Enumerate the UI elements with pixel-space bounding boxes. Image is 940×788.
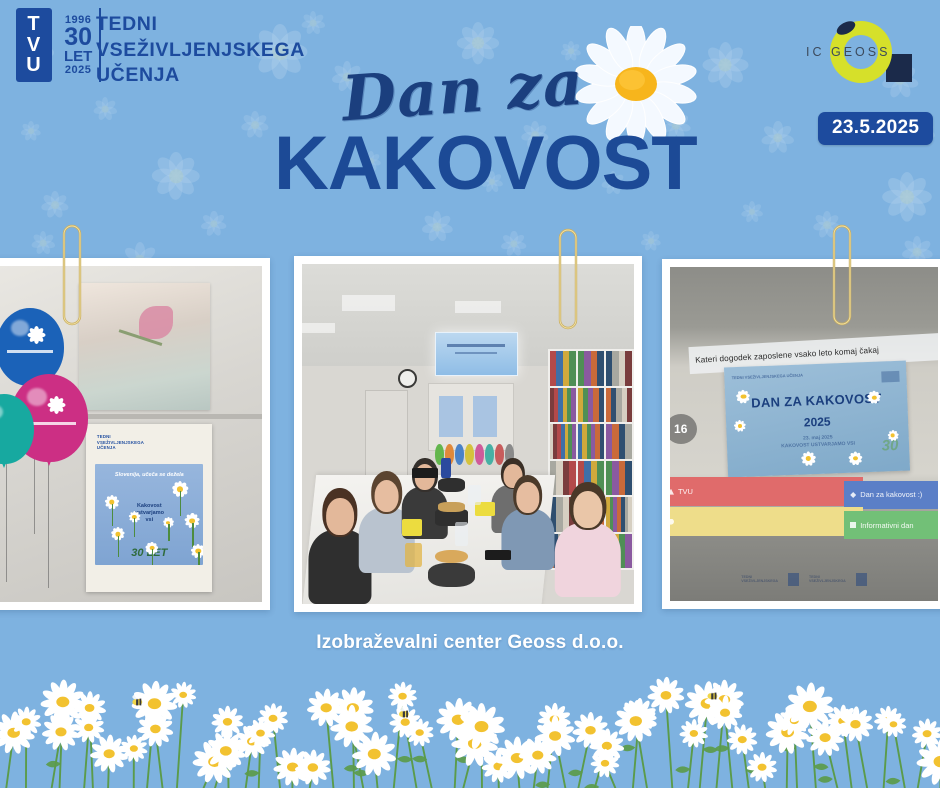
p3-slide: TEDNI VSEŽIVLJENJSKEGA UČENJA DAN ZA KAK… <box>724 360 910 477</box>
p2-whiteboard <box>428 383 514 451</box>
p1-poster-slogan-l3: vsi <box>146 517 154 523</box>
fruit-bowl <box>438 478 465 492</box>
p3-slide-tvu-logo <box>881 371 899 383</box>
tvu-wordmark-line2: VSEŽIVLJENJSKEGA <box>96 38 305 64</box>
daisy-leaf <box>46 761 61 768</box>
paperclip-icon <box>56 216 88 334</box>
background-daisy-icon <box>760 120 796 156</box>
poster-daisy-stem <box>134 518 135 536</box>
daisy-leaf <box>885 778 900 785</box>
photo-projected-quiz: Kateri dogodek zaposlene vsako leto koma… <box>670 267 938 601</box>
slide-daisy-icon <box>867 390 882 405</box>
bookshelf-cell <box>550 388 576 423</box>
background-daisy-icon <box>640 230 662 252</box>
quiz-answer-marker-icon <box>850 492 856 498</box>
p1-poster-body: Slovenija, učeča se dežela Kakovost ustv… <box>95 464 203 565</box>
daisy-icon <box>747 752 778 783</box>
quiz-answer-marker-icon <box>850 522 856 528</box>
photo-frame-team[interactable] <box>294 256 642 612</box>
p3-slide-header: TEDNI VSEŽIVLJENJSKEGA UČENJA <box>732 372 804 380</box>
background-daisy-icon <box>700 40 750 90</box>
pastry-platter <box>428 563 474 587</box>
p2-board-sheet-2 <box>473 396 497 437</box>
bookshelf-cell <box>606 424 632 459</box>
p2-light-3 <box>302 323 335 333</box>
slide-daisy-icon <box>736 388 752 404</box>
balloon-daisy-print <box>43 392 70 418</box>
juice-glass <box>405 543 422 567</box>
tvu-anniversary-unit: LET <box>64 49 92 64</box>
bookshelf-cell <box>578 351 604 386</box>
slide-daisy-icon <box>734 419 747 432</box>
quiz-answer-option[interactable] <box>670 507 863 535</box>
quiz-answer-option[interactable]: TVU <box>670 477 863 505</box>
daisy-leaf <box>703 746 718 753</box>
photo-balloons-poster: TEDNI VSEŽIVLJENJSKEGA UČENJA Slovenija,… <box>0 266 262 602</box>
background-daisy-icon <box>150 150 202 202</box>
tvu-wordmark-line1: TEDNI <box>96 12 305 38</box>
tvu-mark: TVU <box>16 8 52 82</box>
water-bottle <box>441 458 451 478</box>
photo-strip: TEDNI VSEŽIVLJENJSKEGA UČENJA Slovenija,… <box>0 258 940 616</box>
daisy-leaf <box>675 766 690 773</box>
poster-daisy-icon <box>184 513 201 530</box>
bookshelf-cell <box>550 424 576 459</box>
quiz-answer-option[interactable]: Informativni dan <box>844 511 938 539</box>
background-daisy-icon <box>20 120 42 142</box>
daisy-icon <box>614 700 657 743</box>
page-title-main: KAKOVOST <box>274 126 697 202</box>
page-caption: Izobraževalni center Geoss d.o.o. <box>0 632 940 654</box>
poster-daisy-stem <box>198 552 199 565</box>
person-face <box>573 491 602 528</box>
person-face <box>326 498 354 535</box>
event-date-badge: 23.5.2025 <box>818 112 933 145</box>
p3-footer-logo-1 <box>788 573 799 586</box>
daisy-icon <box>912 718 940 749</box>
tvu-mark-letters: TVU <box>26 14 41 76</box>
water-glass <box>455 522 468 546</box>
pastries <box>438 502 465 512</box>
daisy-leaf <box>584 784 599 788</box>
background-daisy-icon <box>420 210 454 244</box>
bookshelf-cell <box>550 351 576 386</box>
balloon-daisy-print <box>25 324 48 347</box>
p2-board-sheet-1 <box>439 396 463 437</box>
p2-projection-screen <box>435 332 518 376</box>
p3-footer-logo-2 <box>856 573 867 586</box>
bookshelf-cell <box>606 388 632 423</box>
background-daisy-icon <box>880 170 934 224</box>
balloon-string <box>48 458 49 588</box>
tvu-year-end: 2025 <box>65 64 91 76</box>
slide-daisy-icon <box>848 450 864 466</box>
daisy-leaf <box>818 776 833 783</box>
person-face <box>374 480 399 513</box>
daisy-leaf <box>397 756 412 763</box>
poster-daisy-stem <box>180 491 181 516</box>
poster-daisy-stem <box>118 536 119 557</box>
quiz-answer-marker-icon <box>670 519 674 525</box>
water-glass <box>468 485 481 505</box>
p2-screen-line-1 <box>447 344 505 347</box>
p1-poster-header-line3: UČENJA <box>97 445 202 450</box>
slide-daisy-icon <box>887 429 899 441</box>
quiz-answer-label: TVU <box>678 487 693 496</box>
smartphone <box>485 550 512 560</box>
ic-geoss-wordmark: IC GEOSS <box>806 45 890 59</box>
poster-daisy-icon <box>162 517 174 529</box>
croissant <box>435 550 468 564</box>
poster-daisy-icon <box>190 543 203 559</box>
p3-slide-footer: TEDNIVSEŽIVLJENJSKEGA TEDNIVSEŽIVLJENJSK… <box>670 564 938 594</box>
napkin-yellow <box>402 519 422 536</box>
p3-footer-text-2: TEDNIVSEŽIVLJENJSKEGA <box>809 575 846 584</box>
daisy-leaf <box>814 764 829 771</box>
bookshelf-cell <box>578 424 604 459</box>
balloon-wordmark <box>7 350 53 353</box>
tvu-logo: TVU 1996 30 LET 2025 <box>16 8 101 82</box>
p3-slide-sub-1: 23. maj 2025 <box>803 434 833 441</box>
p3-slide-sub-2: KAKOVOST USTVARJAMO VSI <box>781 440 855 449</box>
quiz-answer-label: Informativni dan <box>860 521 913 530</box>
poster-daisy-icon <box>110 527 125 542</box>
tvu-wordmark: TEDNI VSEŽIVLJENJSKEGA UČENJA <box>96 12 305 89</box>
background-daisy-icon <box>200 210 228 238</box>
tvu-wordmark-line3: UČENJA <box>96 63 305 89</box>
smartphone <box>412 468 439 478</box>
poster-daisy-icon <box>128 511 141 524</box>
daisy-meadow-border <box>0 658 940 788</box>
balloon-string <box>6 462 7 582</box>
paperclip-icon <box>552 220 584 338</box>
balloon-highlight <box>0 405 3 419</box>
p1-poster-arc-text: Slovenija, učeča se dežela <box>102 472 197 478</box>
daisy-icon <box>388 682 417 711</box>
poster-daisy-icon <box>171 480 189 498</box>
poster-daisy-icon <box>145 541 159 555</box>
daisy-icon <box>90 734 129 773</box>
person-body <box>554 523 620 597</box>
person-face <box>516 482 539 512</box>
poster-daisy-stem <box>112 504 113 526</box>
p2-light-2 <box>455 301 501 313</box>
poster-daisy-stem <box>168 524 169 541</box>
p2-screen-line-2 <box>455 352 497 354</box>
p2-light-1 <box>342 295 395 311</box>
p3-slide-title-2: 2025 <box>726 411 909 432</box>
background-daisy-icon <box>500 230 528 258</box>
quiz-answer-marker-icon <box>670 489 674 495</box>
seated-person <box>554 482 620 598</box>
p1-tvu-poster: TEDNI VSEŽIVLJENJSKEGA UČENJA Slovenija,… <box>86 424 212 592</box>
p1-poster-slogan-l1: Kakovost <box>137 503 162 509</box>
photo-team-table <box>302 264 634 604</box>
p1-blossom <box>139 306 173 339</box>
photo-frame-quiz[interactable]: Kateri dogodek zaposlene vsako leto koma… <box>662 259 940 609</box>
background-daisy-icon <box>740 200 764 224</box>
poster-daisy-stem <box>152 549 153 565</box>
p3-footer-text-1: TEDNIVSEŽIVLJENJSKEGA <box>741 575 778 584</box>
p1-wall-art <box>79 283 210 411</box>
poster-daisy-icon <box>104 494 120 510</box>
background-daisy-icon <box>92 96 118 122</box>
slide-daisy-icon <box>800 450 817 467</box>
quiz-answer-option[interactable]: Dan za kakovost :) <box>844 481 938 509</box>
poster-canvas: TVU 1996 30 LET 2025 TEDNI VSEŽIVLJENJSK… <box>0 0 940 788</box>
paperclip-icon <box>826 216 858 334</box>
daisy-icon <box>727 724 758 755</box>
tvu-anniversary-number: 30 <box>64 26 92 49</box>
quiz-answer-label: Dan za kakovost :) <box>860 490 922 499</box>
tvu-anniversary: 1996 30 LET 2025 <box>57 8 101 82</box>
background-daisy-icon <box>240 110 270 140</box>
bookshelf-cell <box>578 388 604 423</box>
background-daisy-icon <box>30 230 56 256</box>
person-body <box>501 509 554 570</box>
bookshelf-cell <box>606 351 632 386</box>
photo-frame-balloons[interactable]: TEDNI VSEŽIVLJENJSKEGA UČENJA Slovenija,… <box>0 258 270 610</box>
daisy-stem <box>177 695 183 788</box>
